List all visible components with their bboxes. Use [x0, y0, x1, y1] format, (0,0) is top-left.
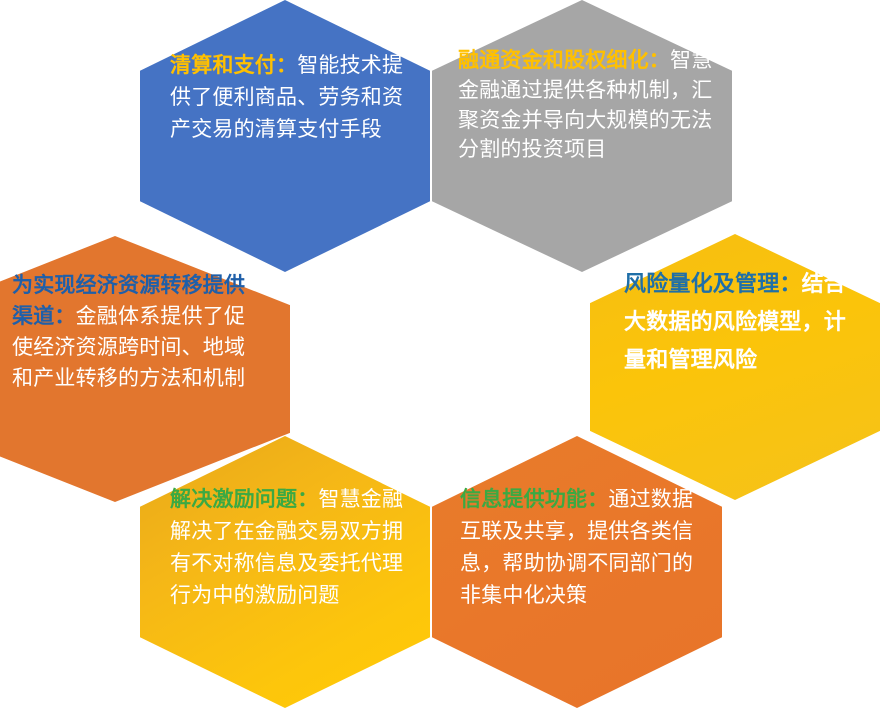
hexagon-title-risk-management: 风险量化及管理：: [624, 272, 802, 297]
hexagon-title-information-supply: 信息提供功能：: [460, 487, 608, 511]
hexagon-text-incentive-problem: 解决激励问题：智慧金融解决了在金融交易双方拥有不对称信息及委托代理行为中的激励问…: [140, 484, 430, 612]
hexagon-title-incentive-problem: 解决激励问题：: [170, 487, 318, 511]
hexagon-title-clearing-payment: 清算和支付：: [170, 53, 297, 77]
hexagon-text-resource-transfer: 为实现经济资源转移提供渠道：金融体系提供了促使经济资源跨时间、地域和产业转移的方…: [0, 270, 290, 394]
hexagon-cell-information-supply[interactable]: 信息提供功能：通过数据互联及共享，提供各类信息，帮助协调不同部门的非集中化决策: [432, 436, 722, 708]
hexagon-text-clearing-payment: 清算和支付：智能技术提供了便利商品、劳务和资产交易的清算支付手段: [140, 50, 430, 146]
hexagon-title-financing-equity: 融通资金和股权细化：: [458, 48, 670, 72]
hexagon-text-risk-management: 风险量化及管理：结合大数据的风险模型，计量和管理风险: [590, 266, 880, 379]
hexagon-cell-incentive-problem[interactable]: 解决激励问题：智慧金融解决了在金融交易双方拥有不对称信息及委托代理行为中的激励问…: [140, 436, 430, 708]
hexagon-cell-clearing-payment[interactable]: 清算和支付：智能技术提供了便利商品、劳务和资产交易的清算支付手段: [140, 0, 430, 272]
hexagon-cell-financing-equity[interactable]: 融通资金和股权细化：智慧金融通过提供各种机制，汇聚资金并导向大规模的无法分割的投…: [432, 0, 732, 272]
hexagon-text-information-supply: 信息提供功能：通过数据互联及共享，提供各类信息，帮助协调不同部门的非集中化决策: [432, 484, 722, 612]
hexagon-text-financing-equity: 融通资金和股权细化：智慧金融通过提供各种机制，汇聚资金并导向大规模的无法分割的投…: [432, 46, 732, 165]
hexagon-diagram-canvas: 清算和支付：智能技术提供了便利商品、劳务和资产交易的清算支付手段 融通资金和股权…: [0, 0, 880, 708]
